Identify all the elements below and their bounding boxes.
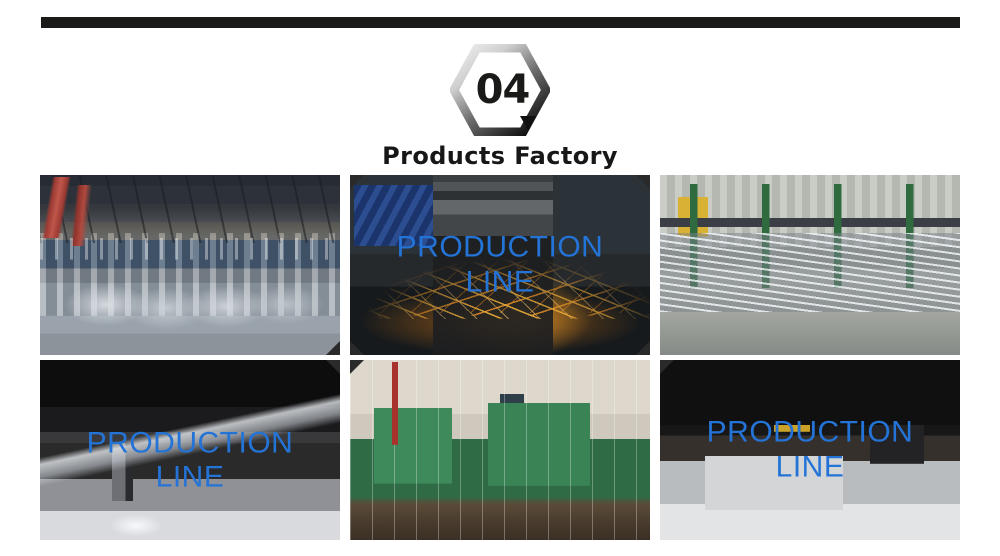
photo-green-machine-shop xyxy=(350,360,650,540)
page-title: Products Factory xyxy=(0,142,1000,170)
photo-cnc-drilling-coolant xyxy=(40,360,340,540)
product-gallery: PRODUCTION LINE PRODUCTION LINE PRODUCTI… xyxy=(40,175,960,540)
gallery-row-2: PRODUCTION LINE PRODUCTION LINE xyxy=(40,360,960,540)
header-divider-bar xyxy=(41,17,960,28)
gallery-tile-cnc-sparks[interactable]: PRODUCTION LINE xyxy=(350,175,650,355)
photo-cnc-mill-sparks xyxy=(350,175,650,355)
gallery-tile-pipes[interactable] xyxy=(40,175,340,355)
gallery-tile-cnc-drill[interactable]: PRODUCTION LINE xyxy=(40,360,340,540)
section-number-text: 04 xyxy=(450,44,550,136)
photo-warehouse-steel-pipes xyxy=(40,175,340,355)
photo-cmm-inspection-part xyxy=(660,360,960,540)
gallery-tile-cmm-inspection[interactable]: PRODUCTION LINE xyxy=(660,360,960,540)
gallery-tile-green-machines[interactable] xyxy=(350,360,650,540)
photo-steel-bar-storage-rack xyxy=(660,175,960,355)
section-number-badge: 04 xyxy=(450,44,550,136)
section-header: 04 Products Factory xyxy=(0,44,1000,170)
gallery-tile-storage-rack[interactable] xyxy=(660,175,960,355)
gallery-row-1: PRODUCTION LINE xyxy=(40,175,960,355)
